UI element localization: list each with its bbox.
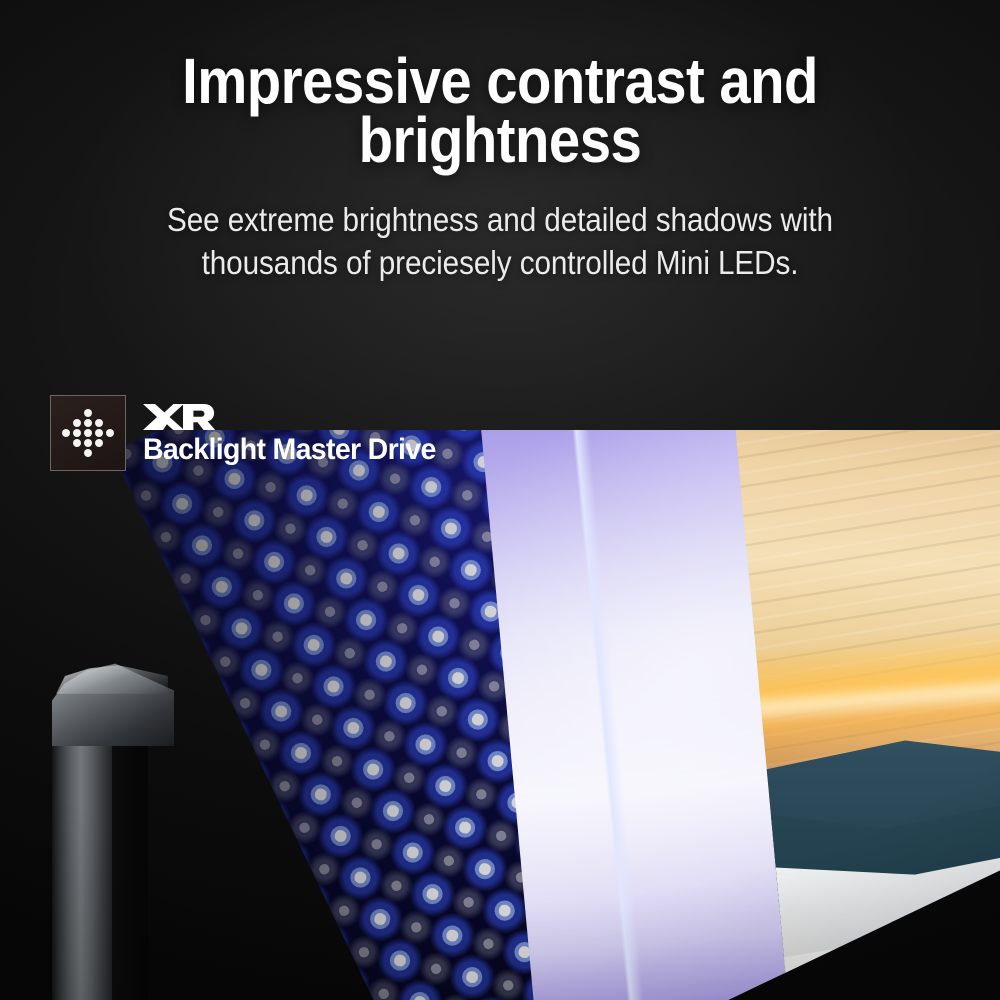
xr-logo <box>143 402 229 432</box>
promo-banner: Impressive contrast and brightness See e… <box>0 0 1000 1000</box>
tv-panel-illustration <box>0 430 1000 1000</box>
dot <box>62 429 71 438</box>
dot-row <box>62 429 115 438</box>
copy-block: Impressive contrast and brightness See e… <box>0 0 1000 284</box>
page-title: Impressive contrast and brightness <box>60 0 940 170</box>
dot <box>73 439 82 448</box>
xr-badge-tile <box>50 395 126 471</box>
dot-row <box>73 419 104 428</box>
xr-badge-technology-label: Backlight Master Drive <box>143 435 436 465</box>
dot <box>84 449 93 458</box>
dot-row <box>84 409 93 418</box>
dot <box>95 419 104 428</box>
xr-technology-badge: Backlight Master Drive <box>50 395 451 471</box>
dot <box>106 429 115 438</box>
xr-diamond-dot-icon <box>51 396 125 470</box>
dot-row <box>73 439 104 448</box>
screen-layer-stack <box>112 430 1000 1000</box>
dot <box>73 429 82 438</box>
dot <box>73 419 82 428</box>
dot <box>84 429 93 438</box>
dot <box>84 439 93 448</box>
dot <box>84 409 93 418</box>
dot <box>95 439 104 448</box>
dot <box>95 429 104 438</box>
bezel-corner-highlight <box>56 664 168 694</box>
page-subtitle: See extreme brightness and detailed shad… <box>50 170 950 284</box>
dot <box>84 419 93 428</box>
xr-badge-text: Backlight Master Drive <box>143 402 451 465</box>
dot-row <box>84 449 93 458</box>
